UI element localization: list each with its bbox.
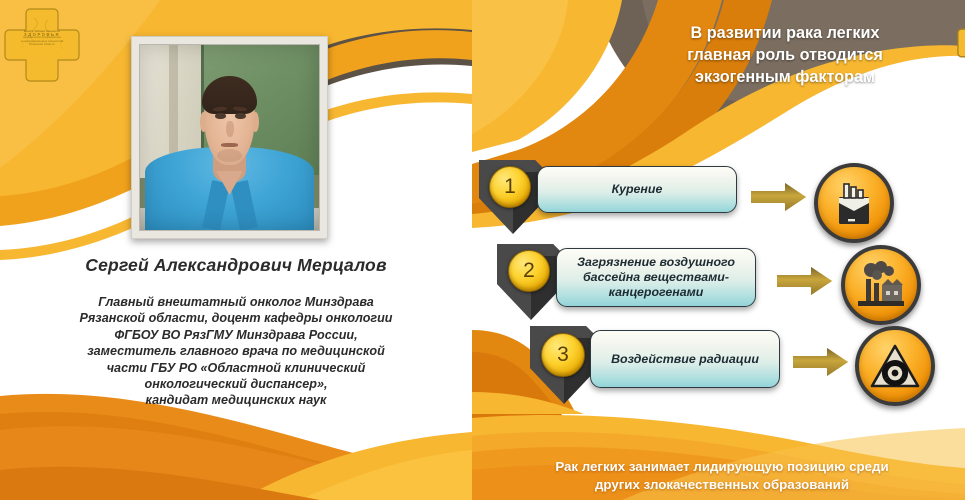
logo-line-5: Рязанской области bbox=[12, 43, 72, 46]
step-1-label: Курение bbox=[537, 166, 737, 213]
public-health-center-logo: Центр Общественного ЗДОРОВЬЯ медицинской… bbox=[4, 6, 80, 84]
bio-line: Рязанской области, доцент кафедры онколо… bbox=[36, 310, 436, 326]
bio-line: Главный внештатный онколог Минздрава bbox=[36, 294, 436, 310]
bio-line: части ГБУ РО «Областной клинический bbox=[36, 360, 436, 376]
right-panel-title: В развитии рака легких главная роль отво… bbox=[620, 22, 950, 88]
step-2-number: 2 bbox=[508, 250, 550, 292]
title-line: экзогенным факторам bbox=[620, 66, 950, 88]
right-arrow-icon bbox=[748, 178, 810, 216]
public-health-center-logo: Центр Общественного ЗДОРОВЬЯ медицинской… bbox=[957, 6, 965, 80]
logo-text: Центр Общественного ЗДОРОВЬЯ медицинской… bbox=[12, 30, 72, 46]
bio-line: кандидат медицинских наук bbox=[36, 392, 436, 408]
slide-root: Центр Общественного ЗДОРОВЬЯ медицинской… bbox=[0, 0, 965, 500]
radiation-hazard-icon bbox=[855, 326, 935, 406]
bio-line: ФГБОУ ВО РязГМУ Минздрава России, bbox=[36, 327, 436, 343]
title-line: главная роль отводится bbox=[620, 44, 950, 66]
step-3-number: 3 bbox=[541, 333, 585, 377]
portrait-frame bbox=[131, 36, 328, 239]
right-arrow-icon bbox=[774, 262, 836, 300]
caption-line: других злокачественных образований bbox=[492, 476, 952, 494]
person-bio: Главный внештатный онколог Минздрава Ряз… bbox=[36, 294, 436, 409]
bio-line: онкологический диспансер», bbox=[36, 376, 436, 392]
right-arrow-icon bbox=[790, 343, 852, 381]
portrait-photo bbox=[139, 44, 320, 231]
bio-line: заместитель главного врача по медицинско… bbox=[36, 343, 436, 359]
step-2-label: Загрязнение воздушного бассейна вещества… bbox=[556, 248, 756, 307]
step-1-number: 1 bbox=[489, 166, 531, 208]
title-line: В развитии рака легких bbox=[620, 22, 950, 44]
right-panel-caption: Рак легких занимает лидирующую позицию с… bbox=[492, 458, 952, 494]
factory-smoke-icon bbox=[841, 245, 921, 325]
person-name: Сергей Александрович Мерцалов bbox=[0, 255, 472, 276]
caption-line: Рак легких занимает лидирующую позицию с… bbox=[492, 458, 952, 476]
cigarette-pack-icon bbox=[814, 163, 894, 243]
step-3-label: Воздействие радиации bbox=[590, 330, 780, 388]
left-panel: Центр Общественного ЗДОРОВЬЯ медицинской… bbox=[0, 0, 472, 500]
